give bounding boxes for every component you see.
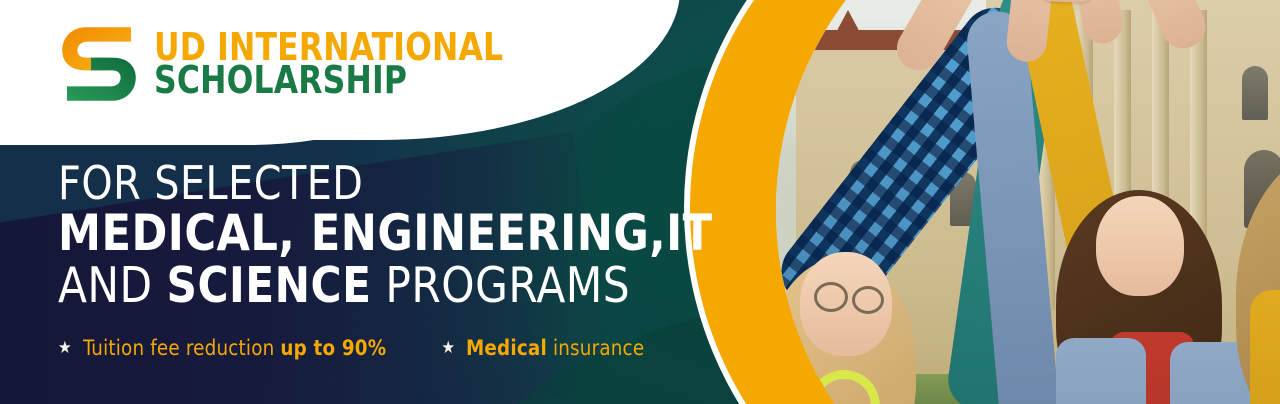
logo-line-2: SCHOLARSHIP [154, 64, 503, 97]
headline-line-2: MEDICAL, ENGINEERING,IT [58, 207, 713, 260]
benefit-text-tuition: Tuition fee reduction up to 90% [83, 336, 386, 360]
benefit-item-tuition: ★ Tuition fee reduction up to 90% [58, 336, 395, 360]
benefit-text-bold: Medical [466, 336, 547, 360]
star-icon: ★ [58, 340, 72, 357]
benefit-item-insurance: ★ Medical insurance [441, 336, 650, 360]
benefit-text-regular: Tuition fee reduction [83, 336, 280, 360]
photo-canvas [776, 0, 1280, 404]
s-monogram-icon [58, 24, 140, 104]
high-five-hands [972, 0, 1162, 24]
benefit-text-bold: up to 90% [280, 336, 386, 360]
yellow-cardigan [1250, 290, 1280, 404]
face [1096, 196, 1184, 296]
building-window [1242, 66, 1268, 120]
star-icon: ★ [441, 340, 455, 357]
benefit-text-tail: insurance [547, 336, 644, 360]
logo-wordmark: UD INTERNATIONAL SCHOLARSHIP [154, 31, 534, 96]
headline: FOR SELECTED MEDICAL, ENGINEERING,IT AND… [58, 160, 740, 312]
headline-line-3-prefix: AND [58, 257, 167, 314]
headline-line-3-bold: SCIENCE [167, 257, 372, 314]
benefit-list: ★ Tuition fee reduction up to 90% ★ Medi… [58, 336, 650, 360]
denim-jacket-left [1056, 338, 1146, 404]
logo[interactable]: UD INTERNATIONAL SCHOLARSHIP [58, 24, 534, 104]
glasses-left-lens [814, 282, 848, 312]
student-photo [776, 0, 1280, 404]
headline-line-3: AND SCIENCE PROGRAMS [58, 260, 713, 312]
headline-line-1: FOR SELECTED [58, 160, 713, 207]
headline-line-3-suffix: PROGRAMS [372, 257, 631, 314]
benefit-text-insurance: Medical insurance [466, 336, 644, 360]
hand [1037, 0, 1097, 3]
scholarship-banner: UD INTERNATIONAL SCHOLARSHIP FOR SELECTE… [0, 0, 1280, 404]
glasses-right-lens [852, 286, 884, 314]
